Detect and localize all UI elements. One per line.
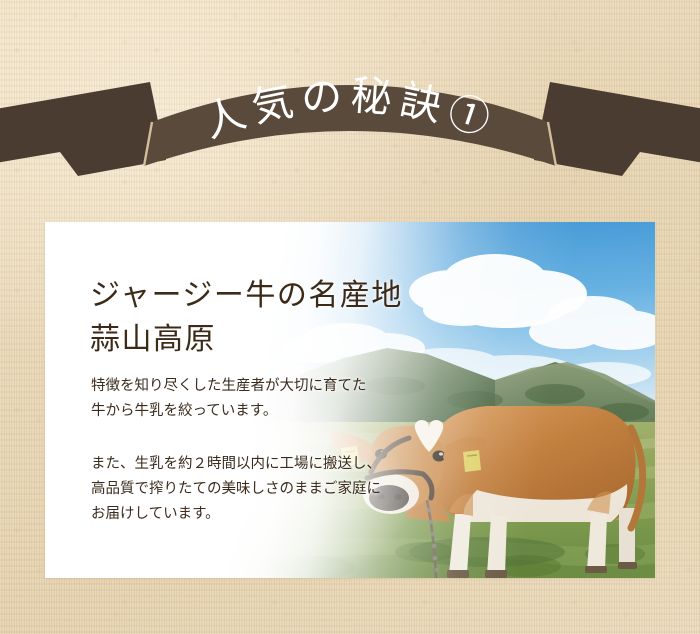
ribbon-banner: 人気の秘訣① [0, 40, 700, 200]
headline-line-2: 蒜山高原 [90, 314, 216, 358]
headline-line-1: ジャージー牛の名産地 [90, 270, 403, 314]
card-text-layer: ジャージー牛の名産地 蒜山高原 特徴を知り尽くした生産者が大切に育てた 牛から牛… [45, 222, 655, 578]
ribbon-left-tail [0, 82, 166, 176]
content-card: ジャージー牛の名産地 蒜山高原 特徴を知り尽くした生産者が大切に育てた 牛から牛… [45, 222, 655, 578]
body-paragraph-1: 特徴を知り尽くした生産者が大切に育てた 牛から牛乳を絞っています。 [91, 374, 367, 424]
ribbon-right-tail [534, 82, 700, 176]
ribbon-main-band [144, 85, 556, 166]
body-paragraph-2: また、生乳を約２時間以内に工場に搬送し、 高品質で搾りたての美味しさのままご家庭… [91, 452, 381, 527]
